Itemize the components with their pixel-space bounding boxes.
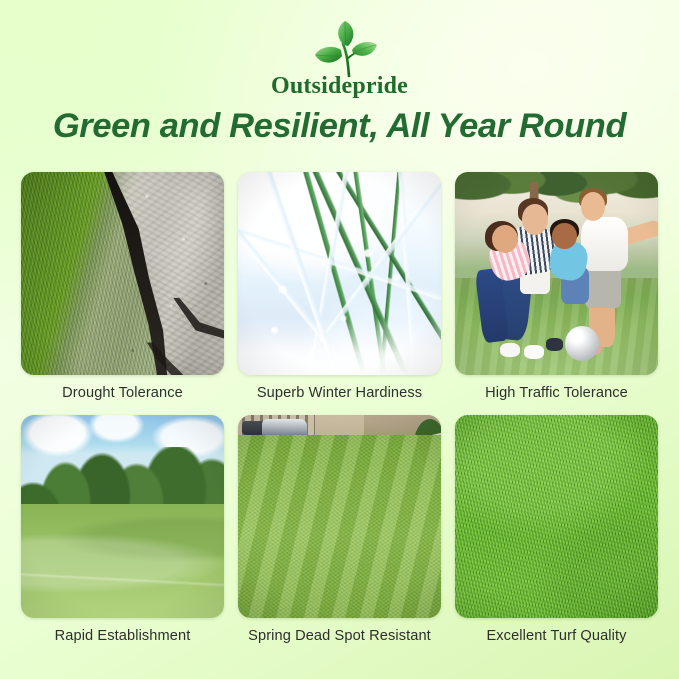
brand-name: Outsidepride [271,74,408,98]
sprout-leaves-icon [292,20,388,78]
feature-caption: Rapid Establishment [55,629,191,644]
golf-course-photo [21,415,224,618]
feature-caption: Superb Winter Hardiness [257,386,422,401]
feature-caption: High Traffic Tolerance [485,386,628,401]
feature-card-rapid-establishment: Rapid Establishment [21,415,224,658]
feature-card-winter-hardiness: Superb Winter Hardiness [238,172,441,415]
brand-header: Outsidepride [0,8,679,98]
page-title: Green and Resilient, All Year Round [0,108,679,146]
product-feature-poster: Outsidepride Green and Resilient, All Ye… [0,0,679,679]
feature-card-turf-quality: Excellent Turf Quality [455,415,658,658]
feature-card-high-traffic: High Traffic Tolerance [455,172,658,415]
striped-lawn-photo [238,415,441,618]
feature-caption: Excellent Turf Quality [486,629,626,644]
frost-photo [238,172,441,375]
turf-photo [455,415,658,618]
feature-card-drought: Drought Tolerance [21,172,224,415]
family-photo [455,172,658,375]
feature-caption: Spring Dead Spot Resistant [248,629,431,644]
feature-caption: Drought Tolerance [62,386,183,401]
feature-card-spring-dead-spot: Spring Dead Spot Resistant [238,415,441,658]
feature-grid: Drought Tolerance Superb Winter Hardines… [21,172,658,658]
drought-photo [21,172,224,375]
